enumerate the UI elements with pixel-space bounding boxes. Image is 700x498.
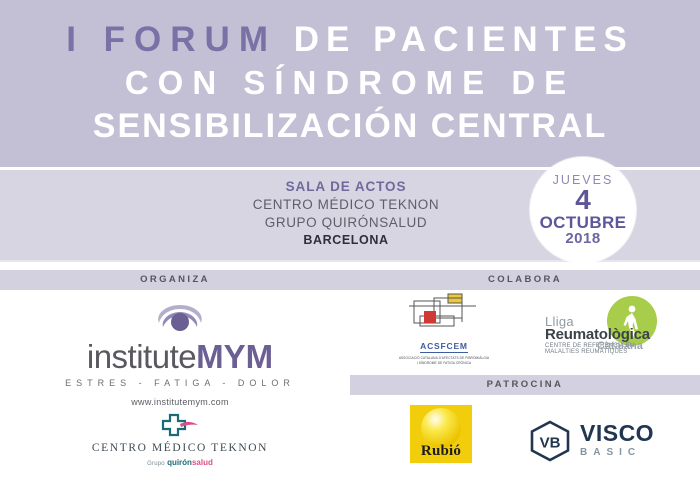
logo-rubio: Rubió (410, 405, 472, 463)
title-line-1-rest: DE PACIENTES (294, 20, 634, 59)
title-line-3: SENSIBILIZACIÓN CENTRAL (0, 109, 700, 143)
poster-title: I FORUM DE PACIENTES CON SÍNDROME DE SEN… (0, 22, 700, 143)
rubio-sphere-icon (421, 408, 461, 448)
mym-wordmark: instituteMYM (60, 340, 300, 373)
rubio-name: Rubió (410, 443, 472, 460)
date-day: 4 (575, 187, 591, 214)
teknon-salud-label: salud (192, 458, 213, 467)
section-label-patrocina: PATROCINA (350, 375, 700, 395)
visco-subtitle: BASIC (580, 448, 654, 458)
date-year: 2018 (565, 231, 600, 247)
visco-name: VISCO (580, 422, 654, 445)
venue-city: BARCELONA (146, 232, 546, 249)
logo-institute-mym: instituteMYM ESTRES - FATIGA - DOLOR www… (60, 303, 300, 407)
teknon-quiron-label: quirón (167, 458, 192, 467)
logo-visco-basic: VB VISCO BASIC (528, 420, 678, 462)
section-bar-patrocina: PATROCINA (350, 375, 700, 395)
section-bar-organiza: ORGANIZA (0, 270, 350, 290)
svg-text:VB: VB (540, 435, 561, 452)
acsfcem-subtitle: ASSOCIACIÓ CATALANA D'AFECTATS DE FIBROM… (398, 356, 490, 366)
acsfcem-mark-icon (404, 292, 484, 336)
title-line-2: CON SÍNDROME DE (0, 66, 700, 99)
venue-room: SALA DE ACTOS (146, 178, 546, 196)
section-bar-colabora: COLABORA (350, 270, 700, 290)
date-month: OCTUBRE (540, 214, 627, 231)
venue-info: SALA DE ACTOS CENTRO MÉDICO TEKNON GRUPO… (146, 178, 546, 249)
acsfcem-name: ACSFCEM (420, 341, 468, 353)
mym-word-light: institute (87, 338, 196, 375)
logo-acsfcem: ACSFCEM ASSOCIACIÓ CATALANA D'AFECTATS D… (398, 292, 490, 366)
title-forum-accent: I FORUM (66, 20, 277, 59)
title-line-1: I FORUM DE PACIENTES (0, 22, 700, 57)
mym-website: www.institutemym.com (60, 397, 300, 407)
teknon-mark-icon (160, 412, 200, 438)
section-label-colabora: COLABORA (350, 270, 700, 290)
visco-hexagon-icon: VB (528, 420, 572, 467)
mym-word-bold: MYM (196, 338, 273, 375)
section-label-organiza: ORGANIZA (0, 270, 350, 290)
mym-swirl-icon (153, 303, 207, 337)
date-badge: JUEVES 4 OCTUBRE 2018 (530, 157, 636, 263)
logo-teknon: CENTRO MÉDICO TEKNON Grupo quirónsalud (70, 412, 290, 467)
lliga-line-4: Catalana (597, 340, 643, 352)
venue-group: GRUPO QUIRÓNSALUD (146, 214, 546, 232)
teknon-group: Grupo quirónsalud (70, 458, 290, 467)
mym-tagline: ESTRES - FATIGA - DOLOR (60, 378, 300, 388)
event-poster: I FORUM DE PACIENTES CON SÍNDROME DE SEN… (0, 0, 700, 498)
visco-wordmark: VISCO BASIC (580, 422, 654, 458)
logo-lliga-reumatologica: Lliga Reumatològica CENTRE DE REFERÈNCIA… (545, 296, 665, 366)
teknon-name: CENTRO MÉDICO TEKNON (70, 442, 290, 454)
teknon-grupo-label: Grupo (147, 461, 165, 467)
venue-center: CENTRO MÉDICO TEKNON (146, 196, 546, 214)
